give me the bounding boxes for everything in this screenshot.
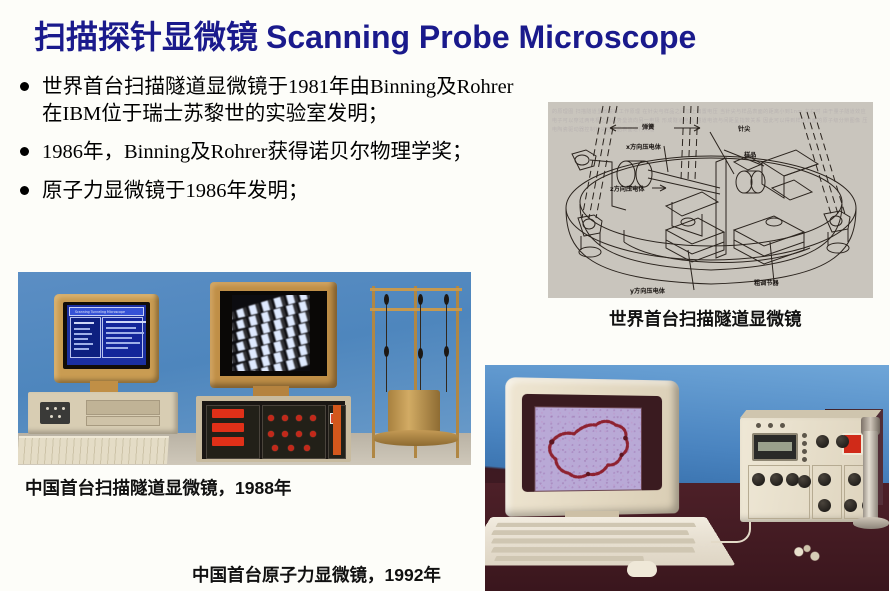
list-item: 1986年，Binning及Rohrer获得诺贝尔物理学奖； [16,139,526,166]
caption-afm-1992-text: 中国首台原子力显微镜， [192,565,385,585]
page-title-chinese: 扫描探针显微镜 [34,19,258,55]
bullet-dot-icon [20,186,29,195]
bullet-dot-icon [20,147,29,156]
rack-power-strip [333,405,341,455]
screen-title-text: Scanning Tunneling Microscope [75,310,125,314]
stm-schematic-diagram: 的原理图 扫描隧道显微镜的工作原理 在针尖与样品之间加上偏置电压 当针尖与样品表… [548,102,873,298]
floppy-drive-slot [86,400,160,415]
caption-stm-diagram: 世界首台扫描隧道显微镜 [609,306,802,331]
atomic-lattice-image [232,295,310,371]
sample-drum [388,390,440,432]
controller-display [752,433,798,461]
isolation-base-plate [374,430,458,446]
afm-scan-image [534,406,642,492]
caption-afm-1992-year: 1992年 [385,565,441,585]
diagram-label-tip: 针尖 [738,124,750,133]
software-screen: Scanning Tunneling Microscope [67,305,146,365]
list-item-text: 1986年，Binning及Rohrer获得诺贝尔物理学奖； [42,141,473,163]
caption-stm-1988-year: 1988年 [235,478,291,498]
afm-monitor [505,377,679,517]
diagram-label-y-piezo: y方向压电体 [630,286,665,295]
chassis-control-panel [40,402,70,424]
drive-bay [86,416,160,426]
caption-stm-1988-text: 中国首台扫描隧道显微镜， [25,478,235,498]
caption-afm-1992: 中国首台原子力显微镜，1992年 [192,562,441,587]
vibration-isolation-frame [370,286,462,458]
crt-monitor-lattice [210,282,337,388]
loose-components [785,543,831,565]
page-title: 扫描探针显微镜 Scanning Probe Microscope [34,12,696,58]
page-title-english: Scanning Probe Microscope [266,19,696,55]
list-item: 世界首台扫描隧道显微镜于1981年由Binning及Rohrer在IBM位于瑞士… [16,74,526,127]
scan-head-column [863,431,878,519]
afm-keyboard [485,517,736,566]
bullet-dot-icon [20,82,29,91]
bullet-list: 世界首台扫描隧道显微镜于1981年由Binning及Rohrer在IBM位于瑞士… [16,74,526,217]
scan-head-base [853,517,889,529]
list-item: 原子力显微镜于1986年发明； [16,178,526,205]
diagram-label-spring: 弹簧 [642,122,654,131]
diagram-label-z-piezo: z方向压电体 [610,184,645,193]
scan-map-outline [535,407,641,490]
rack-front-panel [202,401,345,459]
mouse [627,561,657,577]
diagram-label-sample: 样品 [744,150,756,159]
list-item-text: 世界首台扫描隧道显微镜于1981年由Binning及Rohrer在IBM位于瑞士… [42,76,514,125]
caption-stm-1988: 中国首台扫描隧道显微镜，1988年 [25,475,291,500]
computer-monitor: Scanning Tunneling Microscope [54,294,159,383]
screen-left-pane [70,317,101,358]
screen-right-pane [102,317,143,358]
afm-scan-head [859,413,883,531]
screen-title-bar: Scanning Tunneling Microscope [69,307,144,316]
diagram-label-coarse-adjuster: 粗调节器 [754,278,779,287]
afm-controller-box [740,417,875,522]
pc-chassis [28,392,178,434]
photo-stm-1988: Scanning Tunneling Microscope [18,272,471,465]
electronics-rack [196,396,351,462]
diagram-linework [548,102,873,298]
keyboard [18,436,169,464]
diagram-label-x-piezo: x方向压电体 [626,142,661,151]
photo-afm-1992 [485,365,889,591]
slide-canvas: 扫描探针显微镜 Scanning Probe Microscope 世界首台扫描… [0,0,890,591]
list-item-text: 原子力显微镜于1986年发明； [42,180,309,202]
